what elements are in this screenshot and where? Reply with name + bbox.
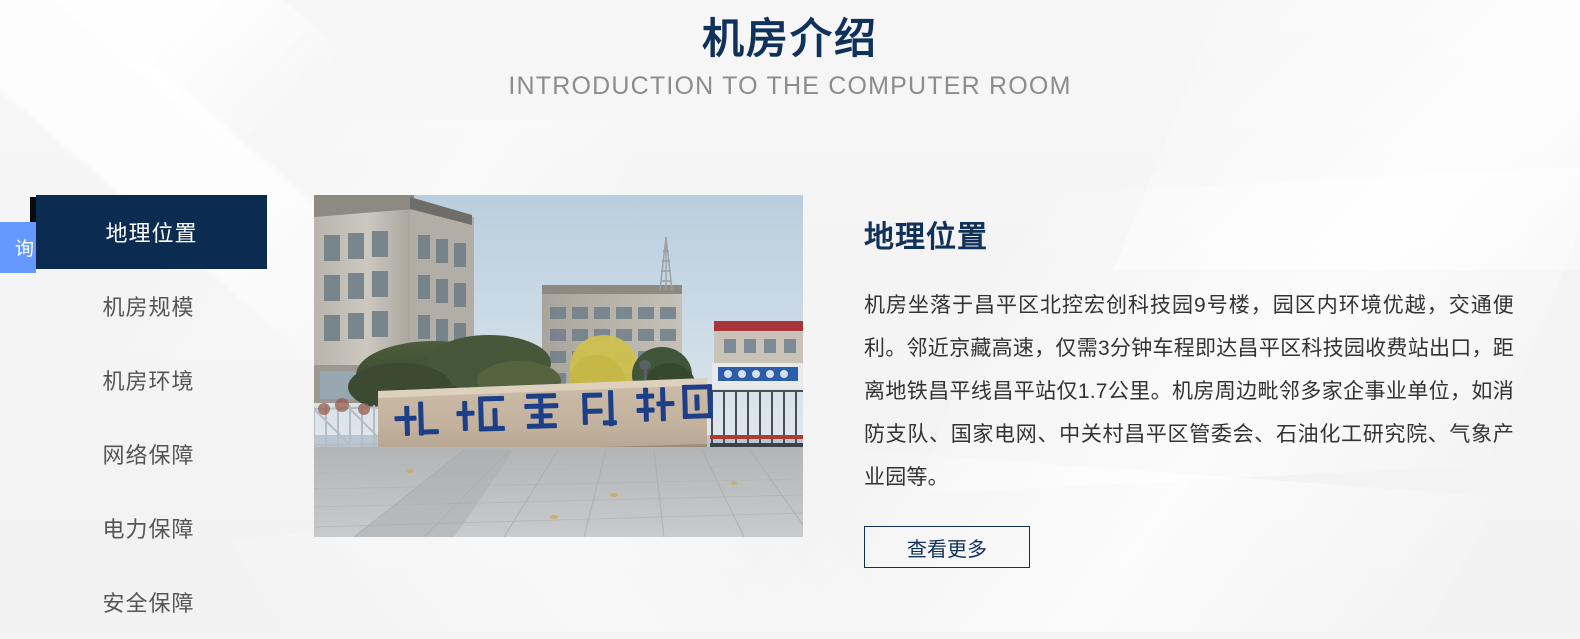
content-body: 机房坐落于昌平区北控宏创科技园9号楼，园区内环境优越，交通便利。邻近京藏高速，仅… — [864, 284, 1514, 499]
consult-tab[interactable]: 询 — [0, 222, 36, 273]
sidebar-item-label: 地理位置 — [105, 216, 197, 248]
content-panel: 地理位置 机房坐落于昌平区北控宏创科技园9号楼，园区内环境优越，交通便利。邻近京… — [864, 212, 1514, 568]
content-title: 地理位置 — [864, 212, 1514, 256]
sidebar-item-security[interactable]: 安全保障 — [30, 565, 267, 639]
view-more-button[interactable]: 查看更多 — [864, 526, 1030, 568]
sidebar-item-location[interactable]: 地理位置 — [36, 195, 267, 269]
sidebar-item-label: 网络保障 — [102, 438, 194, 470]
page-header: 机房介绍 INTRODUCTION TO THE COMPUTER ROOM — [0, 14, 1580, 101]
sidebar-item-scale[interactable]: 机房规模 — [30, 269, 267, 343]
section-nav-sidebar: 地理位置 机房规模 机房环境 网络保障 电力保障 安全保障 — [30, 195, 267, 639]
sidebar-item-environment[interactable]: 机房环境 — [30, 343, 267, 417]
sidebar-item-label: 机房环境 — [102, 364, 194, 396]
facility-photo-illustration — [314, 195, 803, 537]
facility-photo — [314, 195, 803, 537]
page-subtitle: INTRODUCTION TO THE COMPUTER ROOM — [0, 72, 1580, 101]
page-title: 机房介绍 — [0, 14, 1580, 64]
sidebar-item-label: 机房规模 — [102, 290, 194, 322]
sidebar-item-label: 电力保障 — [102, 512, 194, 544]
sidebar-active-edge-marker — [30, 197, 36, 224]
sidebar-item-network[interactable]: 网络保障 — [30, 417, 267, 491]
sidebar-item-power[interactable]: 电力保障 — [30, 491, 267, 565]
consult-tab-label: 询 — [15, 234, 34, 261]
sidebar-item-label: 安全保障 — [102, 586, 194, 618]
